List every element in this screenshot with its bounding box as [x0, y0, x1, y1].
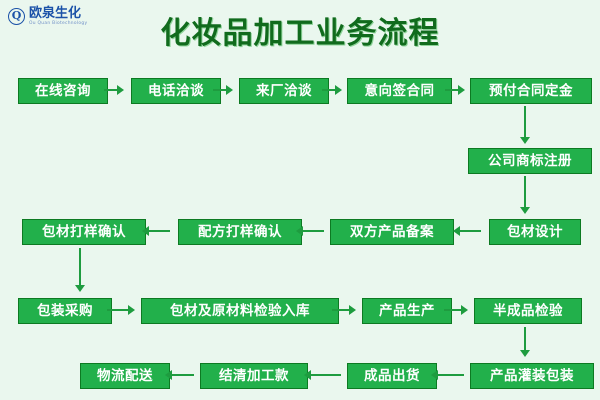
arrow-down-icon-a14 — [519, 327, 531, 357]
flow-node-n12: 包材及原材料检验入库 — [141, 298, 339, 324]
arrow-left-icon-a9 — [142, 225, 170, 237]
flow-node-n4: 意向签合同 — [347, 78, 452, 104]
flow-node-n13: 产品生产 — [362, 298, 452, 324]
flow-node-n11: 包装采购 — [18, 298, 112, 324]
flow-node-n18: 物流配送 — [80, 363, 170, 389]
arrow-left-icon-a7 — [453, 225, 481, 237]
arrow-left-icon-a16 — [304, 369, 341, 381]
arrow-down-icon-a5 — [519, 106, 531, 144]
flow-node-n3: 来厂洽谈 — [239, 78, 329, 104]
flow-node-n10: 包材打样确认 — [22, 219, 146, 245]
flow-node-n6: 公司商标注册 — [468, 148, 592, 174]
arrow-right-icon-a13 — [444, 304, 468, 316]
arrow-right-icon-a11 — [107, 304, 135, 316]
flow-node-n16: 成品出货 — [347, 363, 437, 389]
flow-node-n15: 产品灌装包装 — [470, 363, 594, 389]
flow-node-n9: 配方打样确认 — [178, 219, 302, 245]
flow-node-n14: 半成品检验 — [474, 298, 582, 324]
arrow-left-icon-a17 — [165, 369, 194, 381]
page-title: 化妆品加工业务流程 — [0, 8, 600, 52]
flow-node-n17: 结清加工款 — [200, 363, 308, 389]
arrow-left-icon-a8 — [296, 225, 324, 237]
arrow-down-icon-a10 — [74, 248, 86, 292]
arrow-down-icon-a6 — [519, 176, 531, 214]
arrow-right-icon-a12 — [332, 304, 356, 316]
arrow-right-icon-a3 — [322, 84, 342, 96]
arrow-right-icon-a4 — [445, 84, 465, 96]
flow-node-n2: 电话洽谈 — [131, 78, 221, 104]
flow-node-n7: 包材设计 — [489, 219, 581, 245]
flowchart-page: Q 欧泉生化 Ou Quan Biotechnology 化妆品加工业务流程 在… — [0, 0, 600, 400]
arrow-right-icon-a1 — [104, 84, 124, 96]
arrow-right-icon-a2 — [213, 84, 233, 96]
arrow-left-icon-a15 — [431, 369, 464, 381]
flow-node-n8: 双方产品备案 — [330, 219, 454, 245]
flow-node-n5: 预付合同定金 — [470, 78, 592, 104]
flow-node-n1: 在线咨询 — [18, 78, 108, 104]
